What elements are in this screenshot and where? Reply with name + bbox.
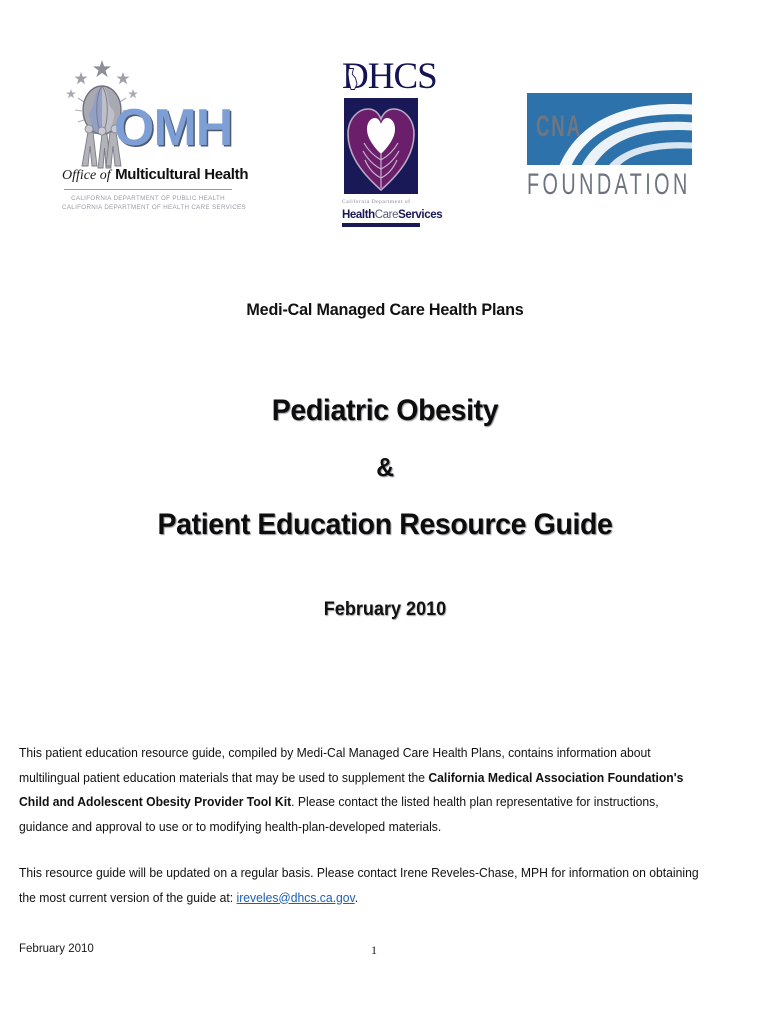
document-title: Pediatric Obesity & Patient Education Re…	[19, 382, 751, 553]
title-block: Medi-Cal Managed Care Health Plans Pedia…	[0, 300, 770, 621]
cna-foundation-logo: CNA FOUNDATION	[527, 93, 692, 208]
dhcs-word-care: Care	[375, 209, 398, 221]
california-state-shape-icon	[347, 68, 358, 90]
body-block: This patient education resource guide, c…	[19, 741, 729, 910]
paragraph-1: This patient education resource guide, c…	[19, 741, 704, 839]
logo-band: OMH Office of Multicultural Health CALIF…	[0, 0, 770, 255]
email-link[interactable]: ireveles@dhcs.ca.gov	[237, 891, 355, 905]
dhcs-heart-mark	[344, 98, 418, 194]
omh-department-lines: CALIFORNIA DEPARTMENT OF PUBLIC HEALTH C…	[62, 194, 234, 212]
omh-divider	[64, 189, 232, 190]
omh-tagline: Office of Multicultural Health	[62, 166, 234, 184]
cna-foundation-word: FOUNDATION	[527, 169, 636, 201]
dhcs-word-services: Services	[398, 209, 442, 221]
dhcs-subtitle: California Department of HealthCareServi…	[342, 198, 422, 222]
paragraph-2: This resource guide will be updated on a…	[19, 861, 704, 910]
title-line-1: Pediatric Obesity	[19, 382, 751, 439]
omh-acronym: OMH	[114, 102, 232, 154]
supertitle: Medi-Cal Managed Care Health Plans	[19, 300, 751, 320]
paragraph-2-part-1: This resource guide will be updated on a…	[19, 866, 699, 905]
omh-department-line-2: CALIFORNIA DEPARTMENT OF HEALTH CARE SER…	[62, 203, 234, 212]
omh-logo: OMH Office of Multicultural Health CALIF…	[62, 58, 234, 230]
footer-page-number: 1	[19, 943, 729, 958]
dhcs-healthcareservices: HealthCareServices	[342, 207, 422, 222]
omh-tagline-multicultural-health: Multicultural Health	[115, 166, 248, 183]
title-line-3: Patient Education Resource Guide	[19, 496, 751, 553]
dhcs-logo: DHCS California Depart	[340, 60, 430, 236]
omh-department-line-1: CALIFORNIA DEPARTMENT OF PUBLIC HEALTH	[62, 194, 234, 203]
dhcs-word-health: Health	[342, 209, 375, 221]
dhcs-wordmark: DHCS	[340, 60, 430, 100]
title-date: February 2010	[19, 599, 751, 621]
dhcs-department-line: California Department of	[342, 198, 422, 206]
cna-acronym: CNA	[536, 112, 582, 142]
omh-tagline-office-of: Office of	[62, 168, 111, 183]
paragraph-2-part-2: .	[355, 891, 358, 905]
page-footer: February 2010 1	[19, 943, 729, 961]
dhcs-bottom-bar	[342, 223, 420, 227]
omh-mark-row: OMH	[62, 58, 234, 170]
cna-blue-box: CNA	[527, 93, 692, 165]
title-line-ampersand: &	[19, 439, 751, 496]
